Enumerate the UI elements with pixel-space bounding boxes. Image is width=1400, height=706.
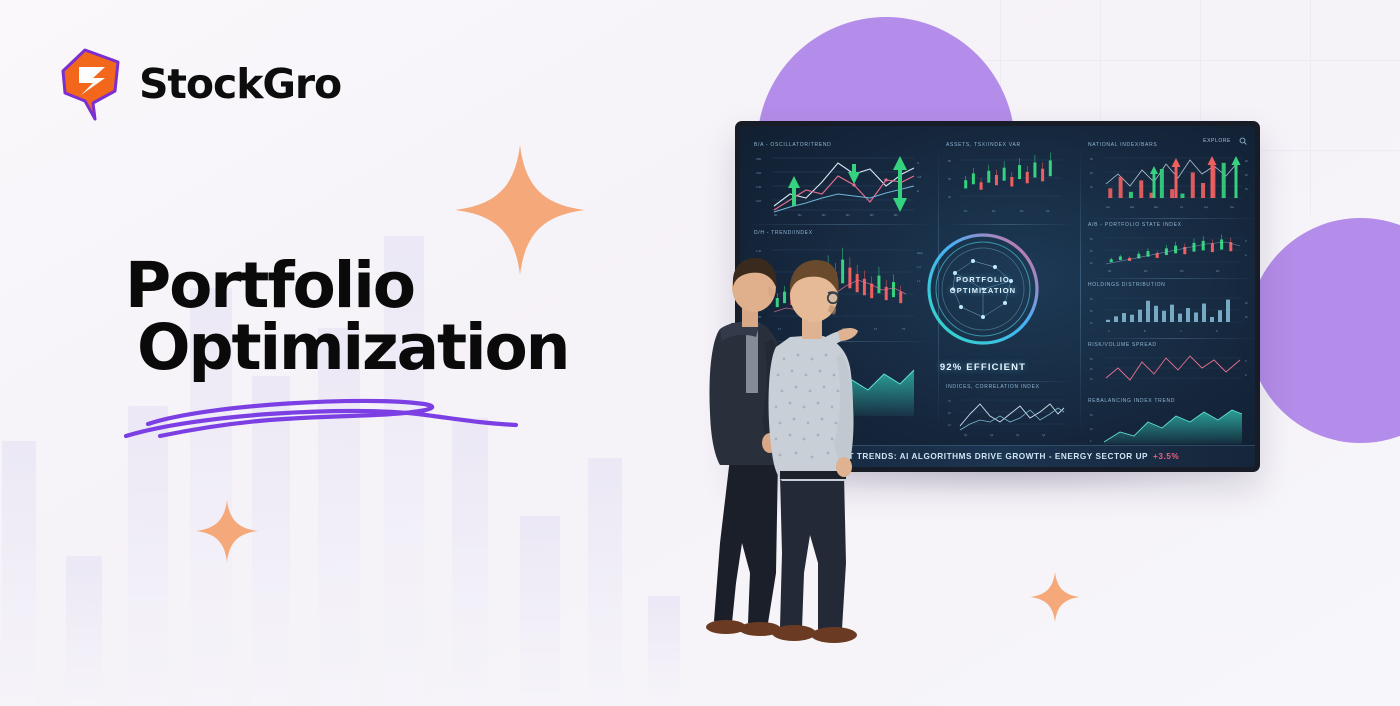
svg-text:10: 10: [948, 424, 951, 427]
svg-text:90: 90: [1090, 158, 1093, 161]
screen-divider-h4: [1088, 218, 1255, 219]
page-title-line2: Optimization: [137, 316, 568, 380]
svg-text:45: 45: [1090, 369, 1093, 371]
page-title: Portfolio Optimization: [125, 255, 568, 380]
svg-text:50: 50: [1090, 311, 1093, 313]
svg-text:Sep: Sep: [1204, 206, 1209, 209]
svg-text:lo: lo: [1245, 375, 1248, 377]
svg-text:40: 40: [948, 412, 951, 415]
svg-text:M1: M1: [774, 213, 778, 217]
panel-holdings-volume-title: HOLDINGS DISTRIBUTION: [1088, 282, 1255, 288]
svg-text:90: 90: [1245, 303, 1248, 305]
svg-text:May: May: [1154, 206, 1159, 209]
svg-text:30: 30: [948, 195, 951, 199]
svg-text:80: 80: [1090, 239, 1093, 241]
portfolio-optimization-ring[interactable]: PORTFOLIO OPTIMIZATION: [925, 231, 1041, 347]
page-title-line1: Portfolio: [125, 255, 568, 316]
svg-text:30: 30: [1090, 186, 1093, 189]
svg-text:Dec: Dec: [1230, 206, 1235, 209]
sparkle-small-icon: [1030, 572, 1080, 622]
brand-name: StockGro: [139, 64, 341, 105]
svg-text:10: 10: [1090, 323, 1093, 325]
svg-text:A: A: [1108, 330, 1110, 333]
bg-gridline-v4: [1310, 0, 1311, 215]
svg-text:0.60: 0.60: [756, 171, 762, 175]
svg-text:20: 20: [1090, 263, 1093, 265]
panel-sector-bars-title: NATIONAL INDEX/BARS: [1088, 142, 1255, 148]
svg-text:mid: mid: [917, 175, 922, 179]
panel-candles-top[interactable]: ASSETS, TSX/INDEX VAR 805530 D1D2D3D4: [946, 142, 1074, 222]
svg-text:0: 0: [1090, 441, 1092, 443]
background-bar: [128, 406, 168, 706]
panel-risk-lines-title: RISK/VOLUME SPREAD: [1088, 342, 1255, 348]
efficiency-metric: 92% EFFICIENT: [900, 362, 1066, 373]
screen-divider-h1: [748, 224, 934, 225]
screen-divider-v2: [1080, 144, 1081, 434]
svg-text:D3: D3: [1020, 209, 1024, 213]
ticker-change: +3.5%: [1153, 452, 1179, 461]
background-bar: [520, 516, 560, 706]
svg-text:Q1: Q1: [964, 434, 968, 437]
background-bar: [66, 556, 102, 706]
svg-text:M5: M5: [870, 213, 874, 217]
ring-label-line1: PORTFOLIO: [925, 275, 1041, 286]
bg-gridline-v2: [1100, 0, 1101, 130]
panel-bottom-lines[interactable]: INDICES, CORRELATION INDEX 704010 Q1Q2Q3…: [946, 384, 1074, 442]
svg-text:D2: D2: [992, 209, 996, 213]
svg-text:C: C: [1180, 331, 1182, 333]
panel-sector-bars[interactable]: NATIONAL INDEX/BARS: [1088, 142, 1255, 218]
background-bar: [452, 418, 488, 706]
bg-gridline-h1: [980, 60, 1400, 61]
svg-text:0.80: 0.80: [756, 157, 762, 161]
sparkle-medium-icon: [196, 500, 258, 562]
panel-portfolio-state[interactable]: A/B - PORTFOLIO STATE INDEX 805020 W1W2W…: [1088, 222, 1255, 278]
poster-canvas: StockGro Portfolio Optimization EXPLORE: [0, 0, 1400, 706]
svg-text:55: 55: [948, 177, 951, 181]
panel-holdings-volume[interactable]: HOLDINGS DISTRIBUTION 905010 ABCD 9030: [1088, 282, 1255, 338]
background-bar: [648, 596, 680, 706]
svg-text:0.20: 0.20: [756, 199, 762, 203]
brand-logo[interactable]: StockGro: [55, 45, 341, 123]
svg-text:Jul: Jul: [1180, 206, 1184, 209]
panel-rebalance-title: REBALANCING INDEX TREND: [1088, 398, 1255, 404]
background-bar: [588, 458, 622, 706]
svg-text:80: 80: [1090, 359, 1093, 361]
svg-text:D4: D4: [1046, 209, 1050, 213]
svg-text:W4: W4: [1216, 271, 1220, 273]
svg-text:W1: W1: [1108, 271, 1112, 273]
svg-text:hi: hi: [917, 161, 919, 165]
svg-text:W2: W2: [1144, 271, 1148, 273]
decor-blob-right: [1248, 218, 1400, 443]
svg-text:30: 30: [1245, 317, 1248, 319]
two-businessmen-viewing-dashboard: [706, 243, 921, 643]
panel-portfolio-state-title: A/B - PORTFOLIO STATE INDEX: [1088, 222, 1255, 228]
man-in-grey-shirt-pointing: [769, 260, 858, 643]
svg-text:lo: lo: [1245, 255, 1248, 257]
stockgro-bolt-logo-icon: [55, 45, 127, 123]
svg-text:hi: hi: [1245, 361, 1247, 363]
svg-text:30: 30: [1245, 188, 1248, 191]
svg-text:Q2: Q2: [990, 434, 994, 437]
svg-text:Q3: Q3: [1016, 434, 1020, 437]
panel-candles-mid-title: D/H - TREND/INDEX: [754, 230, 932, 236]
svg-text:40: 40: [1090, 429, 1093, 431]
svg-text:lo: lo: [917, 189, 920, 193]
bg-gridline-v3: [1200, 0, 1201, 130]
panel-market-overview-title: B/A - OSCILLATOR/TREND: [754, 142, 932, 148]
svg-text:80: 80: [948, 159, 951, 163]
title-underline-swoosh: [118, 390, 548, 446]
panel-risk-lines[interactable]: RISK/VOLUME SPREAD 804510 hilo: [1088, 342, 1255, 394]
ring-label: PORTFOLIO OPTIMIZATION: [925, 275, 1041, 297]
svg-text:10: 10: [1090, 379, 1093, 381]
svg-text:D1: D1: [964, 209, 968, 213]
svg-text:50: 50: [1090, 251, 1093, 253]
panel-bottom-lines-title: INDICES, CORRELATION INDEX: [946, 384, 1074, 390]
svg-text:W3: W3: [1180, 271, 1184, 273]
svg-text:M4: M4: [846, 213, 850, 217]
svg-text:80: 80: [1090, 415, 1093, 417]
background-bar: [318, 328, 360, 706]
svg-text:M3: M3: [822, 213, 826, 217]
svg-text:M2: M2: [798, 213, 802, 217]
screen-divider-h3: [946, 224, 1074, 225]
svg-text:0.40: 0.40: [756, 185, 762, 189]
svg-text:Mar: Mar: [1130, 206, 1134, 209]
svg-text:70: 70: [948, 400, 951, 403]
svg-text:90: 90: [1245, 160, 1248, 163]
svg-text:D: D: [1216, 331, 1218, 333]
svg-text:60: 60: [1090, 172, 1093, 175]
svg-text:B: B: [1144, 331, 1146, 333]
bg-gridline-h2: [1255, 150, 1400, 151]
svg-text:60: 60: [1245, 174, 1248, 177]
svg-text:90: 90: [1090, 299, 1093, 301]
panel-market-overview[interactable]: B/A - OSCILLATOR/TREND: [754, 142, 932, 222]
screen-divider-h7: [946, 381, 1074, 382]
panel-candles-top-title: ASSETS, TSX/INDEX VAR: [946, 142, 1074, 148]
svg-text:Jan: Jan: [1106, 206, 1111, 209]
svg-text:Q4: Q4: [1042, 434, 1046, 437]
background-bar: [2, 441, 36, 706]
svg-text:M6: M6: [894, 213, 898, 217]
svg-text:hi: hi: [1245, 241, 1247, 243]
ring-label-line2: OPTIMIZATION: [925, 286, 1041, 297]
